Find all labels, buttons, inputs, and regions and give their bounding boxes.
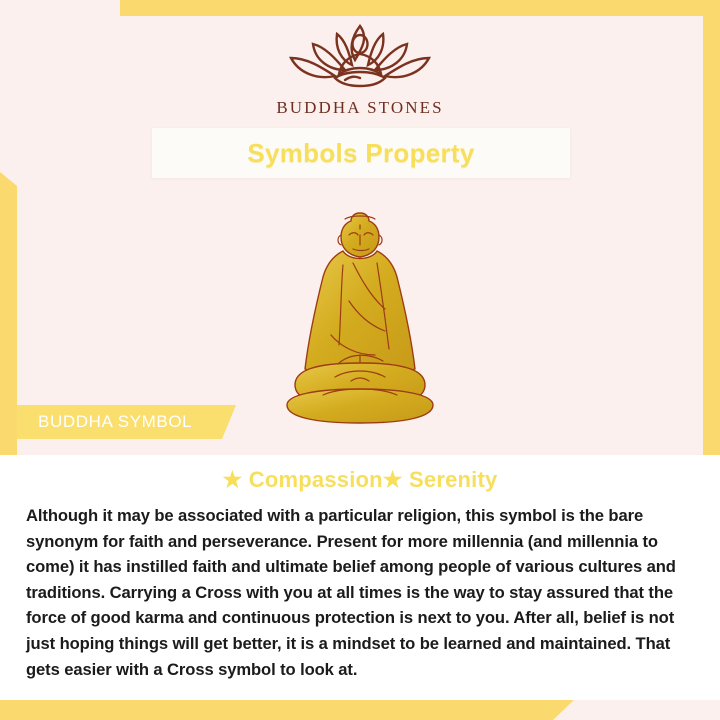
decor-top-bar — [120, 0, 720, 16]
category-badge-label: BUDDHA SYMBOL — [17, 412, 192, 432]
title-banner: Symbols Property — [152, 128, 570, 178]
brand-name: BUDDHA STONES — [0, 98, 720, 118]
decor-bottom-bar — [0, 699, 575, 720]
content-panel: ★ Compassion★ Serenity Although it may b… — [0, 455, 720, 700]
content-paragraph: Although it may be associated with a par… — [26, 503, 694, 682]
lotus-meditation-figure-icon — [275, 18, 445, 96]
category-badge: BUDDHA SYMBOL — [17, 405, 236, 439]
page-title: Symbols Property — [247, 138, 474, 169]
promo-card: BUDDHA STONES Symbols Property — [0, 0, 720, 720]
golden-seated-buddha-statue — [265, 205, 455, 455]
brand-logo: BUDDHA STONES — [0, 18, 720, 118]
content-headline: ★ Compassion★ Serenity — [0, 467, 720, 493]
